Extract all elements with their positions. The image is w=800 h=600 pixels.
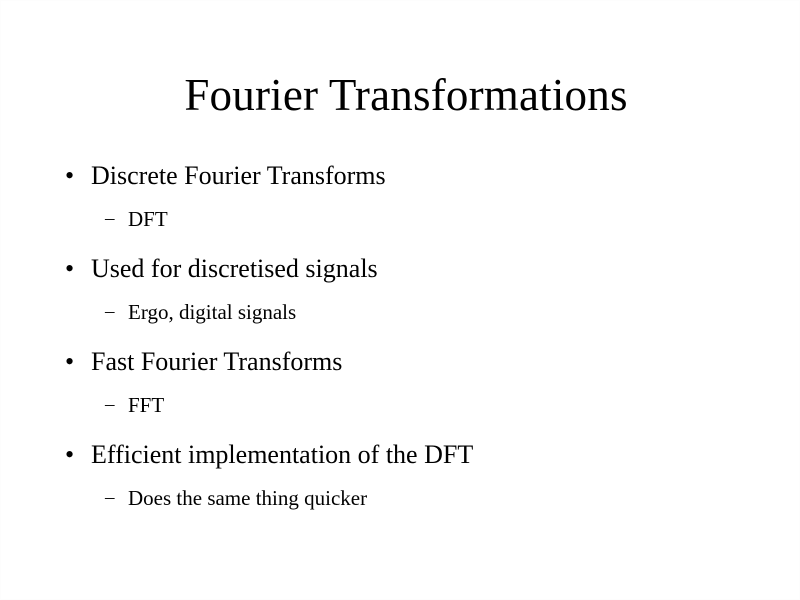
bullet-group: • Used for discretised signals – Ergo, d…: [61, 254, 761, 347]
sub-list-item: – DFT: [61, 207, 761, 254]
bullet-dot-icon: •: [65, 161, 74, 191]
sub-list-item: – Ergo, digital signals: [61, 300, 761, 347]
slide-body-content: • Discrete Fourier Transforms – DFT • Us…: [61, 161, 761, 533]
sub-list-item-label: Does the same thing quicker: [128, 486, 367, 510]
bullet-group: • Discrete Fourier Transforms – DFT: [61, 161, 761, 254]
list-item: • Discrete Fourier Transforms: [61, 161, 761, 207]
bullet-dash-icon: –: [105, 299, 115, 324]
page-title: Fourier Transformations: [1, 69, 800, 121]
bullet-dot-icon: •: [65, 347, 74, 377]
list-item: • Used for discretised signals: [61, 254, 761, 300]
bullet-group: • Efficient implementation of the DFT – …: [61, 440, 761, 533]
bullet-dash-icon: –: [105, 392, 115, 417]
bullet-dot-icon: •: [65, 254, 74, 284]
sub-list-item-label: FFT: [128, 393, 164, 417]
list-item-label: Efficient implementation of the DFT: [91, 440, 473, 469]
list-item-label: Fast Fourier Transforms: [91, 347, 342, 376]
bullet-dot-icon: •: [65, 440, 74, 470]
sub-list-item-label: DFT: [128, 207, 168, 231]
sub-list-item: – FFT: [61, 393, 761, 440]
sub-list-item: – Does the same thing quicker: [61, 486, 761, 533]
list-item-label: Used for discretised signals: [91, 254, 378, 283]
presentation-slide: Fourier Transformations • Discrete Fouri…: [0, 0, 800, 600]
list-item-label: Discrete Fourier Transforms: [91, 161, 386, 190]
bullet-dash-icon: –: [105, 206, 115, 231]
sub-list-item-label: Ergo, digital signals: [128, 300, 296, 324]
list-item: • Efficient implementation of the DFT: [61, 440, 761, 486]
bullet-group: • Fast Fourier Transforms – FFT: [61, 347, 761, 440]
bullet-dash-icon: –: [105, 485, 115, 510]
list-item: • Fast Fourier Transforms: [61, 347, 761, 393]
